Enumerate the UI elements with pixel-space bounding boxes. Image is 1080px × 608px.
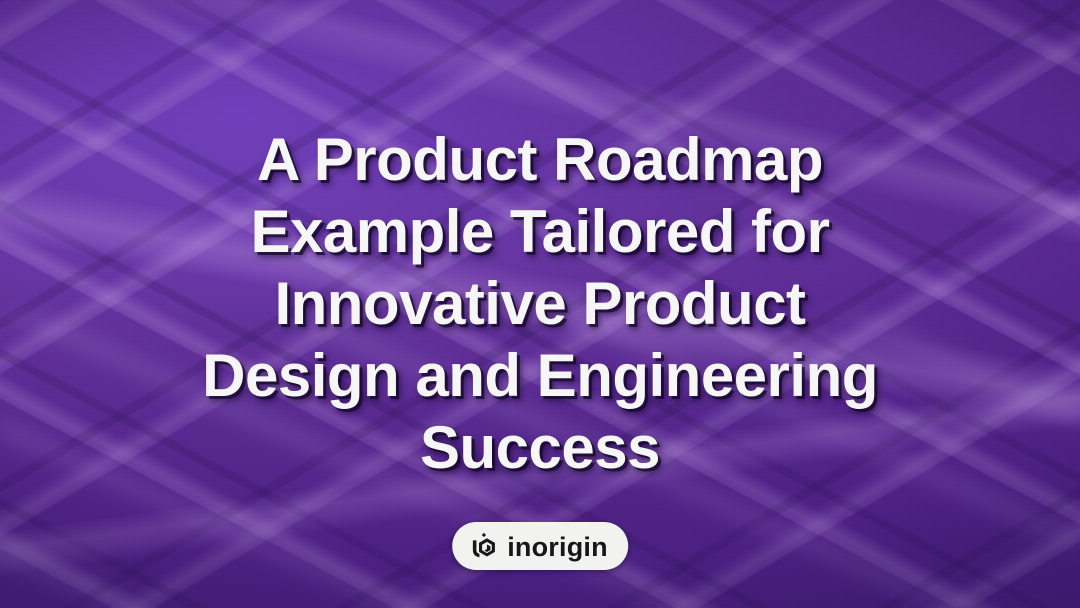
title-line: Design and Engineering <box>46 340 1034 412</box>
title-line: Innovative Product <box>46 268 1034 340</box>
title-line: Example Tailored for <box>46 196 1034 268</box>
banner-image: A Product Roadmap Example Tailored for I… <box>0 0 1080 608</box>
brand-logo-badge[interactable]: inorigin <box>452 522 628 570</box>
title-line: A Product Roadmap <box>46 124 1034 196</box>
title-line: Success <box>46 412 1034 484</box>
brand-wordmark: inorigin <box>507 534 608 561</box>
hexagon-cube-icon <box>468 531 498 561</box>
page-title: A Product Roadmap Example Tailored for I… <box>0 0 1080 484</box>
banner-content: A Product Roadmap Example Tailored for I… <box>0 0 1080 608</box>
